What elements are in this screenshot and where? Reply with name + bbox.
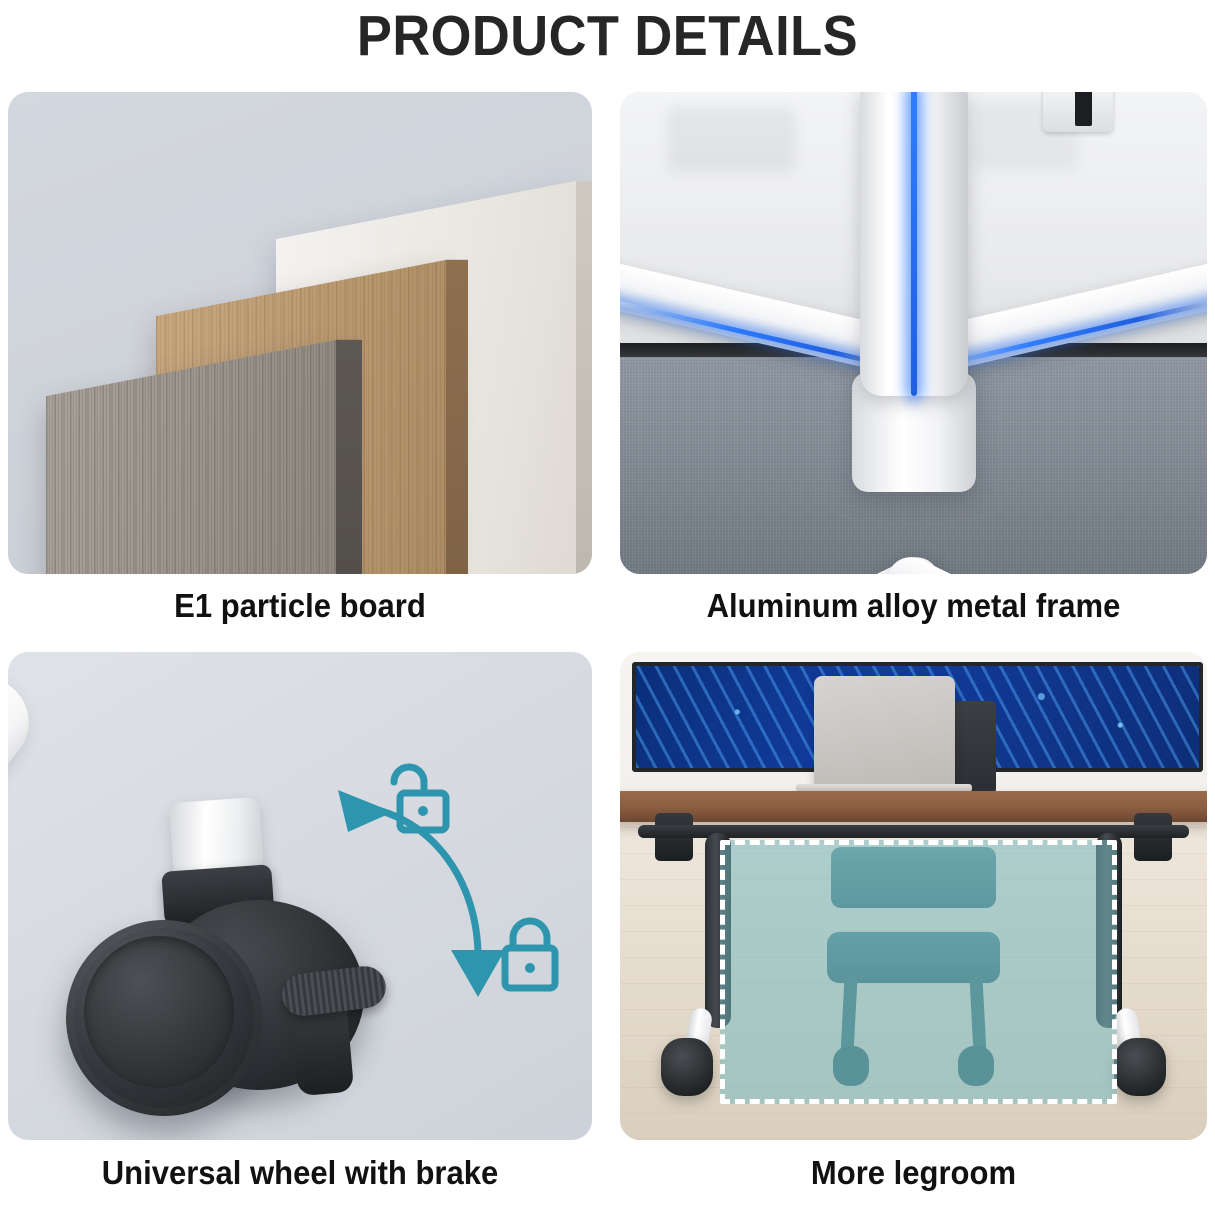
rotation-arrow-head-left	[338, 790, 393, 832]
wall-shadow-left	[667, 107, 796, 172]
panel-aluminum-frame: Aluminum alloy metal frame	[620, 92, 1207, 642]
board-edge	[336, 340, 362, 574]
board-edge	[446, 260, 468, 574]
panel-caption-particle-board: E1 particle board	[26, 587, 575, 625]
unlock-icon	[394, 767, 446, 830]
rotation-arrow-head-down	[451, 950, 505, 997]
board-edge	[576, 181, 592, 574]
more-legroom-image	[620, 652, 1207, 1140]
desk-caster-right	[1114, 1038, 1166, 1096]
panel-caption-more-legroom: More legroom	[638, 1154, 1190, 1192]
universal-wheel-image	[8, 652, 592, 1140]
blue-edge-glow	[911, 92, 917, 396]
panel-caption-aluminum-frame: Aluminum alloy metal frame	[638, 587, 1190, 625]
desk-caster-left	[661, 1038, 713, 1096]
aluminum-frame-image	[620, 92, 1207, 574]
panel-more-legroom: More legroom	[620, 652, 1207, 1200]
page-title: PRODUCT DETAILS	[49, 0, 1167, 72]
product-details-infographic: PRODUCT DETAILS E1 particle board	[0, 0, 1215, 1205]
cable-clip	[1043, 92, 1113, 132]
panel-particle-board: E1 particle board	[8, 92, 592, 642]
particle-board-image	[8, 92, 592, 574]
wheel-annotations	[8, 652, 592, 1140]
desk-top	[620, 791, 1207, 822]
center-column	[860, 92, 968, 396]
panel-caption-universal-wheel: Universal wheel with brake	[26, 1154, 575, 1192]
lock-icon	[505, 921, 555, 988]
laptop	[814, 676, 955, 788]
legroom-highlight-area	[720, 840, 1117, 1104]
panel-universal-wheel: Universal wheel with brake	[8, 652, 592, 1200]
